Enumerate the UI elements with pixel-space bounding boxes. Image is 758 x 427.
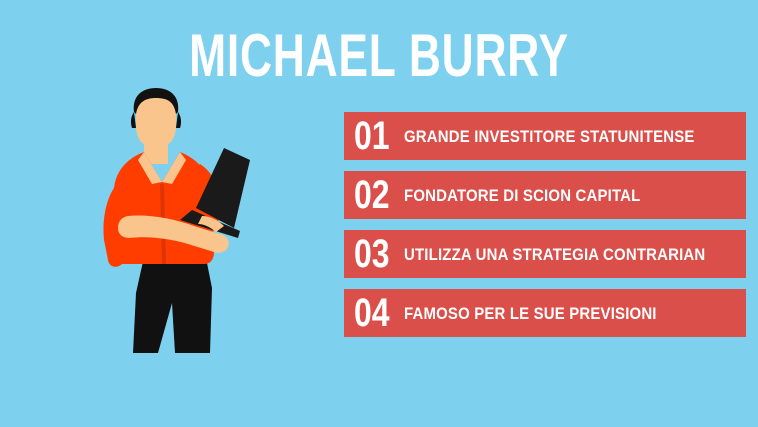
item-number: 01 [354, 116, 389, 156]
head-shape [131, 88, 181, 148]
man-holding-laptop-illustration [100, 88, 300, 353]
item-label: FAMOSO PER LE SUE PREVISIONI [404, 305, 657, 322]
item-number: 04 [354, 293, 389, 333]
infographic-slide: MICHAEL BURRY [0, 0, 758, 427]
page-title: MICHAEL BURRY [99, 26, 660, 86]
list-item[interactable]: 02 FONDATORE DI SCION CAPITAL [344, 171, 746, 219]
list-item[interactable]: 01 GRANDE INVESTITORE STATUNITENSE [344, 112, 746, 160]
item-label: UTILIZZA UNA STRATEGIA CONTRARIAN [404, 246, 705, 263]
item-label: FONDATORE DI SCION CAPITAL [404, 187, 640, 204]
list-item[interactable]: 03 UTILIZZA UNA STRATEGIA CONTRARIAN [344, 230, 746, 278]
facts-list: 01 GRANDE INVESTITORE STATUNITENSE 02 FO… [344, 112, 746, 337]
item-number: 02 [354, 175, 389, 215]
item-label: GRANDE INVESTITORE STATUNITENSE [404, 128, 695, 145]
item-number: 03 [354, 234, 389, 274]
list-item[interactable]: 04 FAMOSO PER LE SUE PREVISIONI [344, 289, 746, 337]
